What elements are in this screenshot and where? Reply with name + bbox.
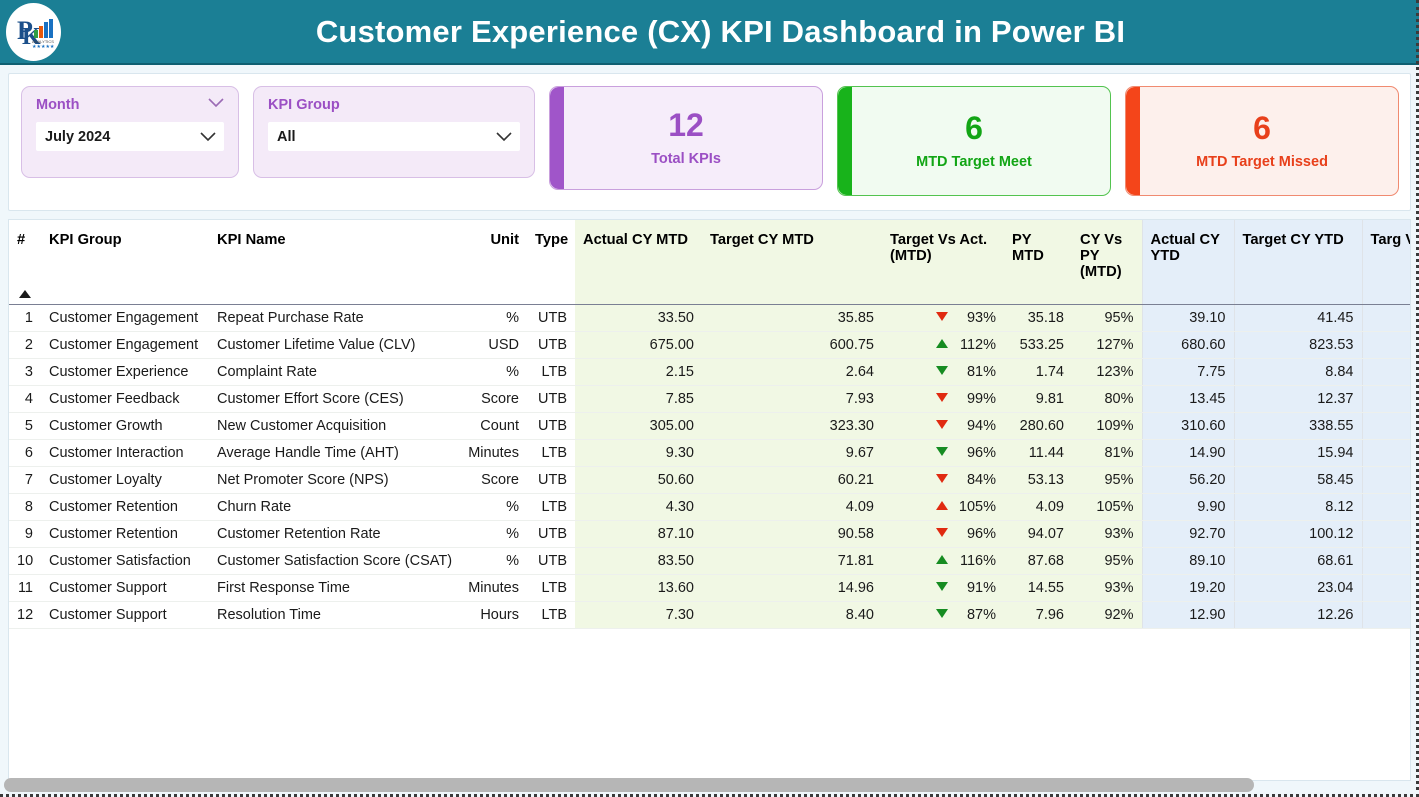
cell-target-vs-act-mtd: 81% bbox=[882, 358, 1004, 385]
cell-actual-cy-mtd: 87.10 bbox=[575, 520, 702, 547]
delta-percent: 116% bbox=[958, 553, 996, 569]
cell-target-vs-act-ytd: 105% bbox=[1362, 601, 1411, 628]
cell-unit: USD bbox=[457, 331, 527, 358]
cell-target-cy-mtd: 8.40 bbox=[702, 601, 882, 628]
arrow-down-icon bbox=[936, 582, 948, 591]
cell-actual-cy-mtd: 83.50 bbox=[575, 547, 702, 574]
cell-unit: Minutes bbox=[457, 574, 527, 601]
filter-and-kpi-strip: Month July 2024 KPI Group All 12 bbox=[8, 73, 1411, 211]
cell-kpi-name: Net Promoter Score (NPS) bbox=[209, 466, 457, 493]
cell-py-mtd: 35.18 bbox=[1004, 304, 1072, 331]
chevron-down-icon[interactable] bbox=[200, 132, 216, 142]
cell-index: 9 bbox=[9, 520, 41, 547]
cell-index: 6 bbox=[9, 439, 41, 466]
cell-unit: Score bbox=[457, 385, 527, 412]
cell-target-cy-mtd: 71.81 bbox=[702, 547, 882, 574]
cell-cy-vs-py-mtd: 93% bbox=[1072, 520, 1142, 547]
cell-target-vs-act-mtd: 116% bbox=[882, 547, 1004, 574]
cell-type: UTB bbox=[527, 385, 575, 412]
cell-kpi-name: Resolution Time bbox=[209, 601, 457, 628]
slicer-month-label: Month bbox=[36, 97, 224, 113]
delta-percent: 96% bbox=[958, 445, 996, 461]
cell-target-vs-act-ytd: 96% bbox=[1362, 466, 1411, 493]
cell-type: LTB bbox=[527, 601, 575, 628]
cell-py-mtd: 87.68 bbox=[1004, 547, 1072, 574]
kpi-card-value: 6 bbox=[965, 112, 983, 146]
arrow-up-icon bbox=[936, 501, 948, 510]
cell-unit: % bbox=[457, 358, 527, 385]
slicer-kpi-group-value: All bbox=[277, 129, 296, 145]
cell-target-cy-ytd: 8.84 bbox=[1234, 358, 1362, 385]
cell-index: 2 bbox=[9, 331, 41, 358]
column-header-target-cy-ytd[interactable]: Target CY YTD bbox=[1234, 220, 1362, 304]
cell-actual-cy-ytd: 680.60 bbox=[1142, 331, 1234, 358]
cell-target-cy-ytd: 12.37 bbox=[1234, 385, 1362, 412]
cell-target-vs-act-mtd: 87% bbox=[882, 601, 1004, 628]
delta-percent: 105% bbox=[958, 499, 996, 515]
cell-target-cy-mtd: 600.75 bbox=[702, 331, 882, 358]
slicer-kpi-group-dropdown[interactable]: All bbox=[268, 122, 520, 151]
column-header-cy-vs-py-mtd[interactable]: CY Vs PY (MTD) bbox=[1072, 220, 1142, 304]
cell-unit: Minutes bbox=[457, 439, 527, 466]
slicer-month[interactable]: Month July 2024 bbox=[21, 86, 239, 178]
kpi-card-mtd-target-meet[interactable]: 6 MTD Target Meet bbox=[837, 86, 1111, 196]
horizontal-scrollbar-thumb[interactable] bbox=[4, 778, 1254, 792]
horizontal-scrollbar[interactable] bbox=[0, 778, 1419, 792]
cell-kpi-group: Customer Engagement bbox=[41, 331, 209, 358]
table-row[interactable]: 1Customer EngagementRepeat Purchase Rate… bbox=[9, 304, 1411, 331]
cell-cy-vs-py-mtd: 95% bbox=[1072, 304, 1142, 331]
table-row[interactable]: 9Customer RetentionCustomer Retention Ra… bbox=[9, 520, 1411, 547]
cell-actual-cy-mtd: 2.15 bbox=[575, 358, 702, 385]
cell-index: 11 bbox=[9, 574, 41, 601]
cell-target-vs-act-ytd: 93% bbox=[1362, 439, 1411, 466]
cell-type: UTB bbox=[527, 547, 575, 574]
cell-kpi-group: Customer Interaction bbox=[41, 439, 209, 466]
cell-actual-cy-mtd: 675.00 bbox=[575, 331, 702, 358]
cell-type: LTB bbox=[527, 574, 575, 601]
cell-target-cy-mtd: 14.96 bbox=[702, 574, 882, 601]
cell-actual-cy-mtd: 50.60 bbox=[575, 466, 702, 493]
cell-cy-vs-py-mtd: 92% bbox=[1072, 601, 1142, 628]
cell-kpi-group: Customer Support bbox=[41, 574, 209, 601]
cell-target-vs-act-ytd: 92% bbox=[1362, 412, 1411, 439]
cell-target-cy-ytd: 823.53 bbox=[1234, 331, 1362, 358]
cell-target-cy-ytd: 23.04 bbox=[1234, 574, 1362, 601]
kpi-card-accent-bar bbox=[550, 87, 564, 189]
cell-index: 5 bbox=[9, 412, 41, 439]
cell-py-mtd: 11.44 bbox=[1004, 439, 1072, 466]
cell-kpi-name: First Response Time bbox=[209, 574, 457, 601]
arrow-down-icon bbox=[936, 420, 948, 429]
column-header-actual-cy-ytd[interactable]: Actual CY YTD bbox=[1142, 220, 1234, 304]
cell-cy-vs-py-mtd: 105% bbox=[1072, 493, 1142, 520]
column-header-target-vs-act-ytd[interactable]: Targ Vs A (YTD bbox=[1362, 220, 1411, 304]
kpi-card-label: MTD Target Meet bbox=[916, 154, 1032, 170]
cell-actual-cy-ytd: 7.75 bbox=[1142, 358, 1234, 385]
cell-actual-cy-ytd: 9.90 bbox=[1142, 493, 1234, 520]
cell-actual-cy-ytd: 12.90 bbox=[1142, 601, 1234, 628]
cell-cy-vs-py-mtd: 123% bbox=[1072, 358, 1142, 385]
cell-py-mtd: 94.07 bbox=[1004, 520, 1072, 547]
cell-cy-vs-py-mtd: 109% bbox=[1072, 412, 1142, 439]
delta-percent: 112% bbox=[958, 337, 996, 353]
cell-kpi-name: Customer Retention Rate bbox=[209, 520, 457, 547]
cell-type: LTB bbox=[527, 358, 575, 385]
cell-target-vs-act-ytd: 122% bbox=[1362, 493, 1411, 520]
cell-actual-cy-ytd: 56.20 bbox=[1142, 466, 1234, 493]
cell-target-vs-act-ytd: 88% bbox=[1362, 358, 1411, 385]
cell-cy-vs-py-mtd: 80% bbox=[1072, 385, 1142, 412]
cell-target-vs-act-mtd: 96% bbox=[882, 520, 1004, 547]
kpi-card-total-kpis[interactable]: 12 Total KPIs bbox=[549, 86, 823, 190]
cell-unit: Score bbox=[457, 466, 527, 493]
column-header-target-cy-mtd[interactable]: Target CY MTD bbox=[702, 220, 882, 304]
cell-type: UTB bbox=[527, 466, 575, 493]
cell-actual-cy-ytd: 92.70 bbox=[1142, 520, 1234, 547]
delta-percent: 96% bbox=[958, 526, 996, 542]
cell-target-cy-ytd: 15.94 bbox=[1234, 439, 1362, 466]
cell-target-cy-mtd: 35.85 bbox=[702, 304, 882, 331]
cell-target-vs-act-ytd: 130% bbox=[1362, 547, 1411, 574]
cell-actual-cy-ytd: 19.20 bbox=[1142, 574, 1234, 601]
cell-target-cy-mtd: 9.67 bbox=[702, 439, 882, 466]
cell-py-mtd: 280.60 bbox=[1004, 412, 1072, 439]
cell-target-cy-mtd: 90.58 bbox=[702, 520, 882, 547]
cell-target-vs-act-ytd: 94% bbox=[1362, 304, 1411, 331]
column-header-index[interactable]: # bbox=[9, 220, 41, 304]
cell-target-cy-ytd: 41.45 bbox=[1234, 304, 1362, 331]
slicer-kpi-group[interactable]: KPI Group All bbox=[253, 86, 535, 178]
cell-actual-cy-ytd: 13.45 bbox=[1142, 385, 1234, 412]
page-title: Customer Experience (CX) KPI Dashboard i… bbox=[0, 14, 1419, 50]
cell-actual-cy-mtd: 7.85 bbox=[575, 385, 702, 412]
cell-actual-cy-ytd: 39.10 bbox=[1142, 304, 1234, 331]
cell-target-vs-act-mtd: 112% bbox=[882, 331, 1004, 358]
pk-analytics-logo-icon: P K ANALYTICS ★★★★★ bbox=[6, 3, 61, 61]
delta-percent: 94% bbox=[958, 418, 996, 434]
cell-target-vs-act-mtd: 96% bbox=[882, 439, 1004, 466]
delta-percent: 91% bbox=[958, 580, 996, 596]
cell-target-vs-act-mtd: 94% bbox=[882, 412, 1004, 439]
cell-index: 7 bbox=[9, 466, 41, 493]
cell-actual-cy-mtd: 9.30 bbox=[575, 439, 702, 466]
cell-unit: % bbox=[457, 493, 527, 520]
cell-kpi-name: New Customer Acquisition bbox=[209, 412, 457, 439]
cell-kpi-group: Customer Experience bbox=[41, 358, 209, 385]
cell-actual-cy-mtd: 305.00 bbox=[575, 412, 702, 439]
delta-percent: 84% bbox=[958, 472, 996, 488]
kpi-card-label: MTD Target Missed bbox=[1196, 154, 1328, 170]
cell-target-cy-ytd: 338.55 bbox=[1234, 412, 1362, 439]
table-row[interactable]: 5Customer GrowthNew Customer Acquisition… bbox=[9, 412, 1411, 439]
cell-type: UTB bbox=[527, 520, 575, 547]
column-header-kpi-group[interactable]: KPI Group bbox=[41, 220, 209, 304]
cell-kpi-name: Customer Satisfaction Score (CSAT) bbox=[209, 547, 457, 574]
cell-kpi-name: Churn Rate bbox=[209, 493, 457, 520]
report-canvas: Month July 2024 KPI Group All 12 bbox=[0, 65, 1419, 797]
delta-percent: 81% bbox=[958, 364, 996, 380]
cell-target-cy-ytd: 100.12 bbox=[1234, 520, 1362, 547]
cell-actual-cy-mtd: 33.50 bbox=[575, 304, 702, 331]
cell-kpi-group: Customer Growth bbox=[41, 412, 209, 439]
cell-target-vs-act-mtd: 84% bbox=[882, 466, 1004, 493]
arrow-down-icon bbox=[936, 366, 948, 375]
cell-kpi-group: Customer Retention bbox=[41, 493, 209, 520]
cell-kpi-group: Customer Retention bbox=[41, 520, 209, 547]
kpi-card-value: 12 bbox=[668, 109, 704, 143]
cell-py-mtd: 4.09 bbox=[1004, 493, 1072, 520]
cell-py-mtd: 9.81 bbox=[1004, 385, 1072, 412]
cell-actual-cy-mtd: 7.30 bbox=[575, 601, 702, 628]
cell-target-vs-act-ytd: 109% bbox=[1362, 385, 1411, 412]
cell-unit: % bbox=[457, 304, 527, 331]
cell-kpi-group: Customer Engagement bbox=[41, 304, 209, 331]
arrow-up-icon bbox=[936, 339, 948, 348]
column-header-actual-cy-mtd[interactable]: Actual CY MTD bbox=[575, 220, 702, 304]
cell-py-mtd: 14.55 bbox=[1004, 574, 1072, 601]
table-row[interactable]: 10Customer SatisfactionCustomer Satisfac… bbox=[9, 547, 1411, 574]
cell-kpi-group: Customer Feedback bbox=[41, 385, 209, 412]
cell-target-cy-ytd: 58.45 bbox=[1234, 466, 1362, 493]
arrow-down-icon bbox=[936, 528, 948, 537]
cell-target-vs-act-mtd: 105% bbox=[882, 493, 1004, 520]
arrow-down-icon bbox=[936, 474, 948, 483]
kpi-card-mtd-target-missed[interactable]: 6 MTD Target Missed bbox=[1125, 86, 1399, 196]
cell-py-mtd: 53.13 bbox=[1004, 466, 1072, 493]
cell-target-cy-ytd: 12.26 bbox=[1234, 601, 1362, 628]
cell-target-cy-mtd: 4.09 bbox=[702, 493, 882, 520]
cell-actual-cy-mtd: 13.60 bbox=[575, 574, 702, 601]
delta-percent: 93% bbox=[958, 310, 996, 326]
app-header: P K ANALYTICS ★★★★★ Customer Experience … bbox=[0, 0, 1419, 65]
cell-target-vs-act-mtd: 93% bbox=[882, 304, 1004, 331]
arrow-up-icon bbox=[936, 555, 948, 564]
arrow-down-icon bbox=[936, 447, 948, 456]
cell-cy-vs-py-mtd: 81% bbox=[1072, 439, 1142, 466]
cell-actual-cy-mtd: 4.30 bbox=[575, 493, 702, 520]
cell-kpi-name: Complaint Rate bbox=[209, 358, 457, 385]
kpi-card-label: Total KPIs bbox=[651, 151, 721, 167]
cell-kpi-name: Repeat Purchase Rate bbox=[209, 304, 457, 331]
cell-target-vs-act-mtd: 99% bbox=[882, 385, 1004, 412]
cell-kpi-group: Customer Satisfaction bbox=[41, 547, 209, 574]
table-row[interactable]: 6Customer InteractionAverage Handle Time… bbox=[9, 439, 1411, 466]
kpi-table-panel: # KPI Group KPI Name Unit Type Actual CY… bbox=[8, 219, 1411, 781]
cell-index: 3 bbox=[9, 358, 41, 385]
cell-cy-vs-py-mtd: 95% bbox=[1072, 547, 1142, 574]
delta-percent: 99% bbox=[958, 391, 996, 407]
kpi-table: # KPI Group KPI Name Unit Type Actual CY… bbox=[9, 220, 1411, 629]
cell-kpi-group: Customer Support bbox=[41, 601, 209, 628]
cell-unit: Count bbox=[457, 412, 527, 439]
cell-type: UTB bbox=[527, 412, 575, 439]
arrow-down-icon bbox=[936, 609, 948, 618]
kpi-card-accent-bar bbox=[1126, 87, 1140, 195]
cell-index: 12 bbox=[9, 601, 41, 628]
table-row[interactable]: 3Customer ExperienceComplaint Rate%LTB2.… bbox=[9, 358, 1411, 385]
column-header-label: # bbox=[17, 232, 25, 248]
column-header-kpi-name[interactable]: KPI Name bbox=[209, 220, 457, 304]
cell-index: 1 bbox=[9, 304, 41, 331]
cell-actual-cy-ytd: 14.90 bbox=[1142, 439, 1234, 466]
cell-target-cy-ytd: 68.61 bbox=[1234, 547, 1362, 574]
cell-cy-vs-py-mtd: 93% bbox=[1072, 574, 1142, 601]
arrow-down-icon bbox=[936, 312, 948, 321]
cell-target-vs-act-ytd: 83% bbox=[1362, 574, 1411, 601]
cell-cy-vs-py-mtd: 95% bbox=[1072, 466, 1142, 493]
cell-target-cy-mtd: 323.30 bbox=[702, 412, 882, 439]
table-row[interactable]: 12Customer SupportResolution TimeHoursLT… bbox=[9, 601, 1411, 628]
cell-index: 8 bbox=[9, 493, 41, 520]
cell-py-mtd: 1.74 bbox=[1004, 358, 1072, 385]
slicer-kpi-group-label: KPI Group bbox=[268, 97, 520, 113]
cell-type: UTB bbox=[527, 331, 575, 358]
cell-py-mtd: 7.96 bbox=[1004, 601, 1072, 628]
cell-cy-vs-py-mtd: 127% bbox=[1072, 331, 1142, 358]
cell-unit: Hours bbox=[457, 601, 527, 628]
cell-type: LTB bbox=[527, 493, 575, 520]
kpi-card-accent-bar bbox=[838, 87, 852, 195]
cell-index: 10 bbox=[9, 547, 41, 574]
slicer-month-dropdown[interactable]: July 2024 bbox=[36, 122, 224, 151]
column-header-type[interactable]: Type bbox=[527, 220, 575, 304]
cell-target-cy-ytd: 8.12 bbox=[1234, 493, 1362, 520]
cell-target-cy-mtd: 7.93 bbox=[702, 385, 882, 412]
sort-ascending-caret-icon[interactable] bbox=[19, 290, 31, 298]
cell-kpi-name: Customer Effort Score (CES) bbox=[209, 385, 457, 412]
table-row[interactable]: 7Customer LoyaltyNet Promoter Score (NPS… bbox=[9, 466, 1411, 493]
column-header-target-vs-act-mtd[interactable]: Target Vs Act. (MTD) bbox=[882, 220, 1004, 304]
cell-target-cy-mtd: 60.21 bbox=[702, 466, 882, 493]
slicer-month-value: July 2024 bbox=[45, 129, 110, 145]
cell-index: 4 bbox=[9, 385, 41, 412]
table-header-row: # KPI Group KPI Name Unit Type Actual CY… bbox=[9, 220, 1411, 304]
cell-kpi-group: Customer Loyalty bbox=[41, 466, 209, 493]
column-header-unit[interactable]: Unit bbox=[457, 220, 527, 304]
column-header-py-mtd[interactable]: PY MTD bbox=[1004, 220, 1072, 304]
cell-kpi-name: Average Handle Time (AHT) bbox=[209, 439, 457, 466]
svg-text:★★★★★: ★★★★★ bbox=[32, 44, 55, 50]
cell-target-vs-act-ytd: 83% bbox=[1362, 331, 1411, 358]
cell-target-vs-act-ytd: 93% bbox=[1362, 520, 1411, 547]
table-row[interactable]: 11Customer SupportFirst Response TimeMin… bbox=[9, 574, 1411, 601]
kpi-card-value: 6 bbox=[1253, 112, 1271, 146]
cell-py-mtd: 533.25 bbox=[1004, 331, 1072, 358]
arrow-down-icon bbox=[936, 393, 948, 402]
cell-target-vs-act-mtd: 91% bbox=[882, 574, 1004, 601]
cell-target-cy-mtd: 2.64 bbox=[702, 358, 882, 385]
table-row[interactable]: 8Customer RetentionChurn Rate%LTB4.304.0… bbox=[9, 493, 1411, 520]
cell-type: UTB bbox=[527, 304, 575, 331]
cell-actual-cy-ytd: 310.60 bbox=[1142, 412, 1234, 439]
chevron-down-icon[interactable] bbox=[496, 132, 512, 142]
cell-kpi-name: Customer Lifetime Value (CLV) bbox=[209, 331, 457, 358]
table-body: 1Customer EngagementRepeat Purchase Rate… bbox=[9, 304, 1411, 628]
cell-type: LTB bbox=[527, 439, 575, 466]
cell-actual-cy-ytd: 89.10 bbox=[1142, 547, 1234, 574]
delta-percent: 87% bbox=[958, 607, 996, 623]
cell-unit: % bbox=[457, 520, 527, 547]
table-row[interactable]: 2Customer EngagementCustomer Lifetime Va… bbox=[9, 331, 1411, 358]
cell-unit: % bbox=[457, 547, 527, 574]
table-row[interactable]: 4Customer FeedbackCustomer Effort Score … bbox=[9, 385, 1411, 412]
chevron-down-icon[interactable] bbox=[208, 98, 224, 108]
